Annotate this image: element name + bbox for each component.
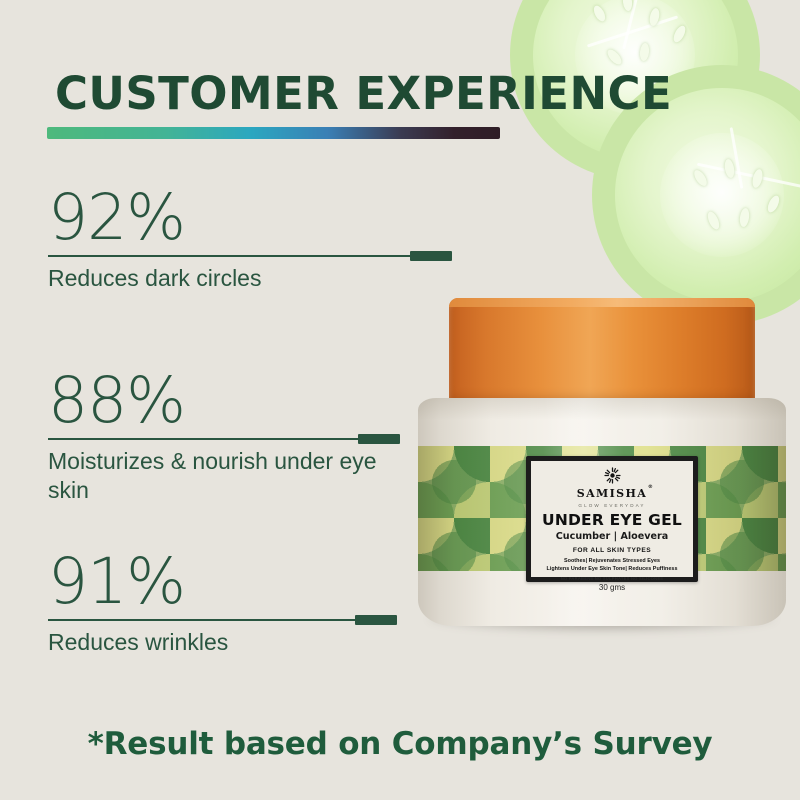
jar-lid-highlight — [449, 298, 755, 307]
stat-value: 88% — [48, 369, 408, 432]
stat-block-dark-circles: 92% Reduces dark circles — [48, 186, 448, 293]
label-product-title: UNDER EYE GEL — [536, 511, 688, 529]
stat-rule — [48, 619, 393, 621]
stat-rule-cap — [355, 615, 397, 625]
stat-value: 91% — [48, 550, 393, 613]
samisha-logo-icon — [604, 467, 621, 484]
cucumber-vein — [587, 15, 678, 47]
label-claim-line: Lightens Under Eye Skin Tone| Reduces Pu… — [536, 565, 688, 573]
label-tagline: GLOW EVERYDAY — [536, 503, 688, 508]
cucumber-seed — [648, 7, 661, 26]
cucumber-seed — [706, 210, 722, 231]
stat-caption: Reduces dark circles — [48, 264, 408, 293]
survey-disclaimer: *Result based on Company’s Survey — [0, 726, 800, 762]
label-variant: Cucumber | Aloevera — [536, 531, 688, 542]
jar-lid — [449, 298, 755, 403]
label-free-from: NO PARABENS NO SULPHATES NO SILICONES — [536, 576, 688, 581]
cucumber-seed — [639, 42, 650, 61]
stat-rule — [48, 438, 396, 440]
label-skin-types: FOR ALL SKIN TYPES — [536, 547, 688, 554]
cucumber-core — [660, 133, 785, 258]
cucumber-seed — [671, 24, 687, 44]
stat-block-wrinkles: 91% Reduces wrinkles — [48, 550, 393, 657]
stat-caption: Moisturizes & nourish under eye skin — [48, 447, 408, 506]
label-net-weight: 30 gms — [536, 583, 688, 592]
cucumber-vein — [622, 0, 641, 49]
cucumber-seed — [592, 4, 608, 23]
label-brand-name: SAMISHA® — [577, 488, 647, 500]
label-claims: Soothes| Rejuvenates Stressed Eyes Light… — [536, 557, 688, 574]
stat-block-moisturizes: 88% Moisturizes & nourish under eye skin — [48, 369, 408, 506]
marketing-infographic: CUSTOMER EXPERIENCE 92% Reduces dark cir… — [0, 0, 800, 800]
cucumber-vein — [697, 163, 800, 189]
label-claim-line: Soothes| Rejuvenates Stressed Eyes — [536, 557, 688, 565]
cucumber-seed — [739, 207, 751, 227]
title-gradient-divider — [47, 127, 500, 139]
stat-caption: Reduces wrinkles — [48, 628, 393, 657]
stat-rule — [48, 255, 448, 257]
label-brand-text: SAMISHA — [577, 487, 647, 500]
cucumber-flesh — [615, 88, 800, 301]
page-title: CUSTOMER EXPERIENCE — [55, 67, 672, 120]
cucumber-seed — [723, 158, 735, 178]
cucumber-vein — [730, 128, 744, 190]
stat-value: 92% — [48, 186, 448, 249]
product-jar-image: SAMISHA® GLOW EVERYDAY UNDER EYE GEL Cuc… — [418, 298, 786, 626]
cucumber-seed — [692, 168, 710, 188]
stat-rule-cap — [410, 251, 452, 261]
product-label: SAMISHA® GLOW EVERYDAY UNDER EYE GEL Cuc… — [526, 456, 698, 582]
cucumber-seed — [751, 168, 764, 189]
stat-rule-cap — [358, 434, 400, 444]
jar-neck-shade — [418, 398, 786, 420]
cucumber-seed — [622, 0, 633, 11]
cucumber-seed — [765, 194, 781, 214]
registered-mark: ® — [648, 485, 654, 491]
cucumber-slices-decoration — [500, 0, 800, 290]
cucumber-seed — [605, 47, 624, 66]
